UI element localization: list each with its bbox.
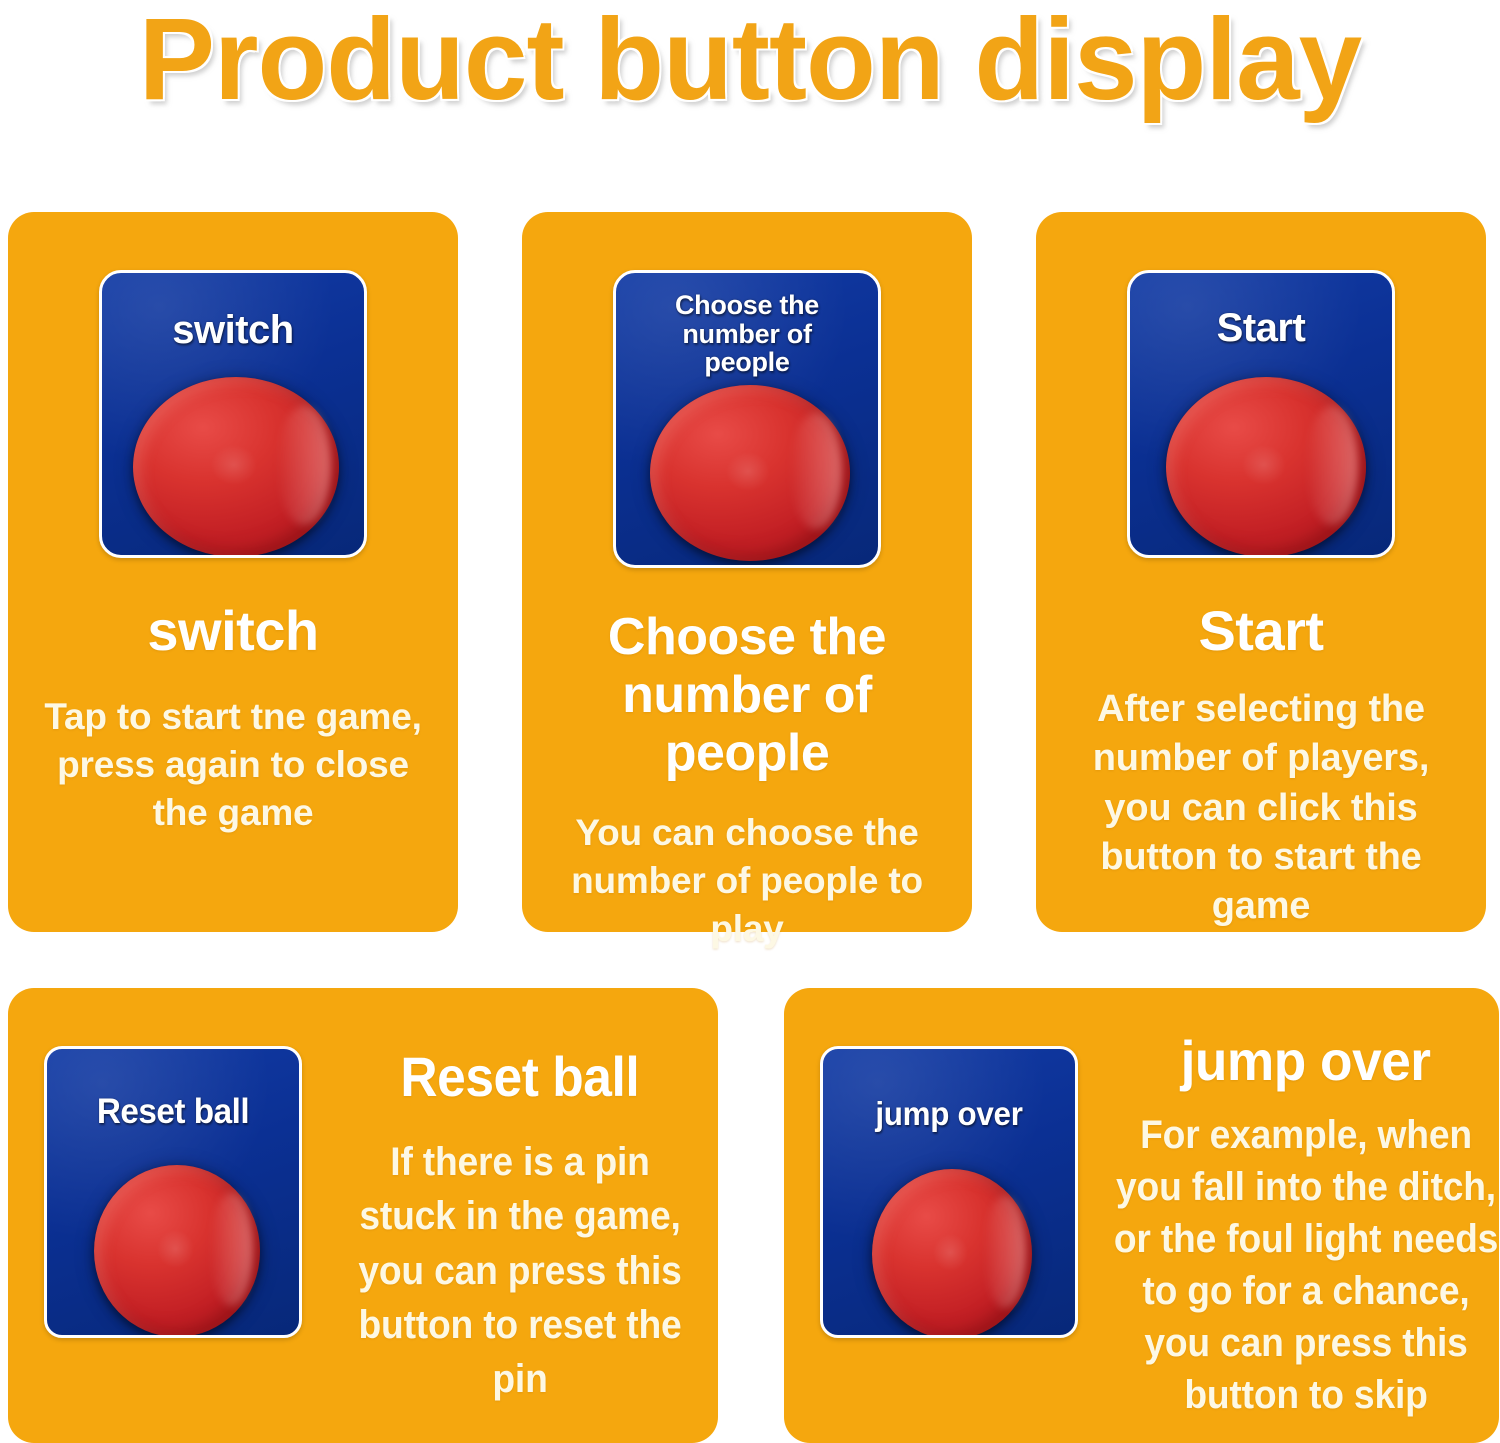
red-push-button-jump-over[interactable] xyxy=(872,1169,1032,1338)
product-card-switch[interactable]: switch switch Tap to start tne game, pre… xyxy=(8,212,458,932)
page-title: Product button display xyxy=(11,0,1489,124)
cards-row-bottom: Reset ball Reset ball If there is a pin … xyxy=(8,988,1500,1443)
card-heading-line-1: Choose the xyxy=(537,608,957,666)
button-panel-label-choose: Choose the number of people xyxy=(616,291,878,377)
card-heading-switch: switch xyxy=(23,600,443,663)
button-module-choose-number-of-people[interactable]: Choose the number of people xyxy=(613,270,881,568)
card-heading-choose-number-of-people: Choose the number of people xyxy=(537,608,957,783)
button-module-jump-over[interactable]: jump over xyxy=(820,1046,1078,1338)
button-module-start[interactable]: Start xyxy=(1127,270,1395,558)
card-heading-line-2: number of people xyxy=(537,666,957,782)
red-push-button-choose[interactable] xyxy=(650,385,850,561)
card-text-column-jump-over: jump over For example, when you fall int… xyxy=(1078,1030,1500,1421)
red-button-cap-icon xyxy=(94,1165,260,1337)
red-button-cap-icon xyxy=(133,377,339,557)
button-panel-label-jump-over: jump over xyxy=(829,1097,1068,1132)
button-panel-label-line-2: number of xyxy=(622,320,872,349)
card-description-jump-over: For example, when you fall into the ditc… xyxy=(1105,1109,1500,1421)
product-card-reset-ball[interactable]: Reset ball Reset ball If there is a pin … xyxy=(8,988,718,1443)
product-card-jump-over[interactable]: jump over jump over For example, when yo… xyxy=(784,988,1499,1443)
red-button-cap-icon xyxy=(650,385,850,561)
button-panel-label-switch: switch xyxy=(102,309,364,351)
product-card-choose-number-of-people[interactable]: Choose the number of people Choose the n… xyxy=(522,212,972,932)
cards-row-top: switch switch Tap to start tne game, pre… xyxy=(8,212,1492,932)
card-description-reset-ball: If there is a pin stuck in the game, you… xyxy=(338,1135,703,1407)
card-text-column-reset-ball: Reset ball If there is a pin stuck in th… xyxy=(302,1046,722,1407)
card-description-start: After selecting the number of players, y… xyxy=(1057,685,1465,932)
product-card-start[interactable]: Start Start After selecting the number o… xyxy=(1036,212,1486,932)
button-panel-label-line-3: people xyxy=(622,348,872,377)
button-panel-label-start: Start xyxy=(1130,307,1392,349)
button-panel-label-line-1: Choose the xyxy=(622,291,872,320)
button-module-reset-ball[interactable]: Reset ball xyxy=(44,1046,302,1338)
card-heading-start: Start xyxy=(1051,600,1471,663)
red-button-cap-icon xyxy=(1166,377,1366,557)
card-description-switch: Tap to start tne game, press again to cl… xyxy=(29,693,437,837)
red-push-button-start[interactable] xyxy=(1166,377,1366,557)
button-module-switch[interactable]: switch xyxy=(99,270,367,558)
button-panel-label-reset-ball: Reset ball xyxy=(53,1093,292,1130)
card-heading-jump-over: jump over xyxy=(1181,1030,1431,1093)
red-push-button-switch[interactable] xyxy=(133,377,339,557)
card-description-choose-number-of-people: You can choose the number of people to p… xyxy=(543,809,951,953)
red-push-button-reset-ball[interactable] xyxy=(94,1165,260,1337)
red-button-cap-icon xyxy=(872,1169,1032,1338)
card-heading-reset-ball: Reset ball xyxy=(401,1046,640,1109)
